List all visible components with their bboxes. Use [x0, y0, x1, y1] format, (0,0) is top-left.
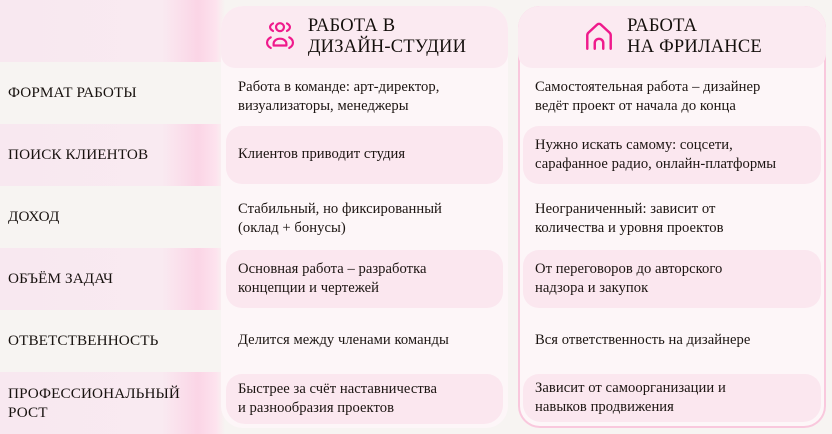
label-text: ОБЪЁМ ЗАДАЧ: [8, 269, 113, 288]
stripe-header-block: [0, 0, 225, 62]
studio-header: РАБОТА В ДИЗАЙН-СТУДИИ: [221, 6, 508, 68]
row-label-format-raboty: ФОРМАТ РАБОТЫ: [8, 62, 223, 124]
studio-cell-row-6: Быстрее за счёт наставничества и разнооб…: [238, 374, 496, 424]
studio-cell-row-1: Работа в команде: арт-директор, визуализ…: [238, 68, 496, 126]
freelance-cell-row-2: Нужно искать самому: соцсети, сарафанное…: [535, 126, 818, 184]
label-text: ПРОФЕССИОНАЛЬНЫЙ РОСТ: [8, 384, 180, 423]
freelance-header: РАБОТА НА ФРИЛАНСЕ: [518, 6, 826, 68]
row-label-dohod: ДОХОД: [8, 186, 223, 248]
freelance-cell-row-5: Вся ответственность на дизайнере: [535, 312, 818, 370]
label-text: ФОРМАТ РАБОТЫ: [8, 83, 137, 102]
label-text: ПОИСК КЛИЕНТОВ: [8, 145, 148, 164]
row-label-otvetstvennost: ОТВЕТСТВЕННОСТЬ: [8, 310, 223, 372]
home-icon: [582, 20, 616, 54]
column-card-freelance: РАБОТА НА ФРИЛАНСЕ Самостоятельная работ…: [518, 6, 826, 428]
freelance-cell-row-4: От переговоров до авторского надзора и з…: [535, 250, 818, 308]
studio-header-title: РАБОТА В ДИЗАЙН-СТУДИИ: [308, 16, 466, 59]
studio-cell-row-3: Стабильный, но фиксированный (оклад + бо…: [238, 190, 496, 248]
label-text: ДОХОД: [8, 207, 59, 226]
label-text: ОТВЕТСТВЕННОСТЬ: [8, 331, 158, 350]
column-card-design-studio: РАБОТА В ДИЗАЙН-СТУДИИ Работа в команде:…: [221, 6, 508, 428]
comparison-table: ФОРМАТ РАБОТЫ ПОИСК КЛИЕНТОВ ДОХОД ОБЪЁМ…: [0, 0, 832, 434]
freelance-header-title: РАБОТА НА ФРИЛАНСЕ: [627, 16, 762, 59]
studio-cell-row-5: Делится между членами команды: [238, 312, 496, 370]
row-label-poisk-klientov: ПОИСК КЛИЕНТОВ: [8, 124, 223, 186]
freelance-cell-row-1: Самостоятельная работа – дизайнер ведёт …: [535, 68, 818, 126]
studio-cell-row-2: Клиентов приводит студия: [238, 126, 496, 184]
freelance-cell-row-3: Неограниченный: зависит от количества и …: [535, 190, 818, 248]
studio-cell-row-4: Основная работа – разработка концепции и…: [238, 250, 496, 308]
row-label-obyom-zadach: ОБЪЁМ ЗАДАЧ: [8, 248, 223, 310]
row-label-professionalnyj-rost: ПРОФЕССИОНАЛЬНЫЙ РОСТ: [8, 372, 223, 434]
freelance-cell-row-6: Зависит от самоорганизации и навыков про…: [535, 374, 818, 422]
people-group-icon: [263, 20, 297, 54]
